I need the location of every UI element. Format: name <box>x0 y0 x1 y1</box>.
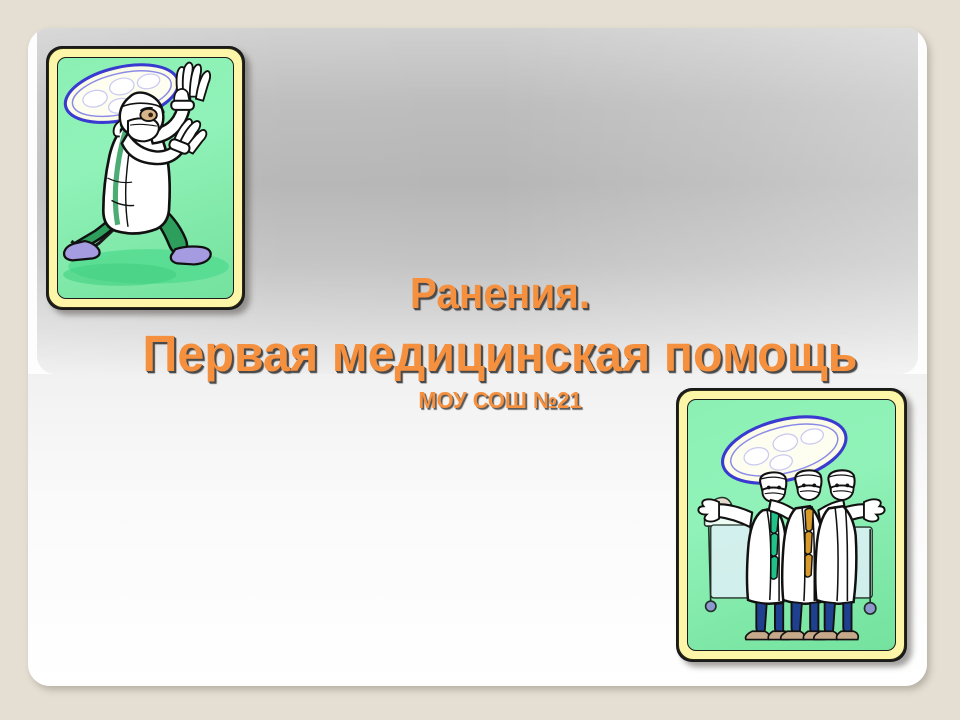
picture-frame-border <box>678 390 905 660</box>
picture-canvas <box>57 57 234 299</box>
surgeon-team-clipart[interactable] <box>676 388 907 662</box>
picture-canvas <box>687 399 896 651</box>
doctor-right <box>814 470 885 639</box>
slide-stage: Ранения. Первая медицинская помощь МОУ С… <box>0 0 960 720</box>
picture-frame-border <box>48 48 243 308</box>
surgeon-running-clipart[interactable] <box>46 46 245 310</box>
gloved-hand-right <box>171 63 210 110</box>
surgeon-team-illustration <box>688 400 895 650</box>
surgeon-running-illustration <box>58 58 233 298</box>
